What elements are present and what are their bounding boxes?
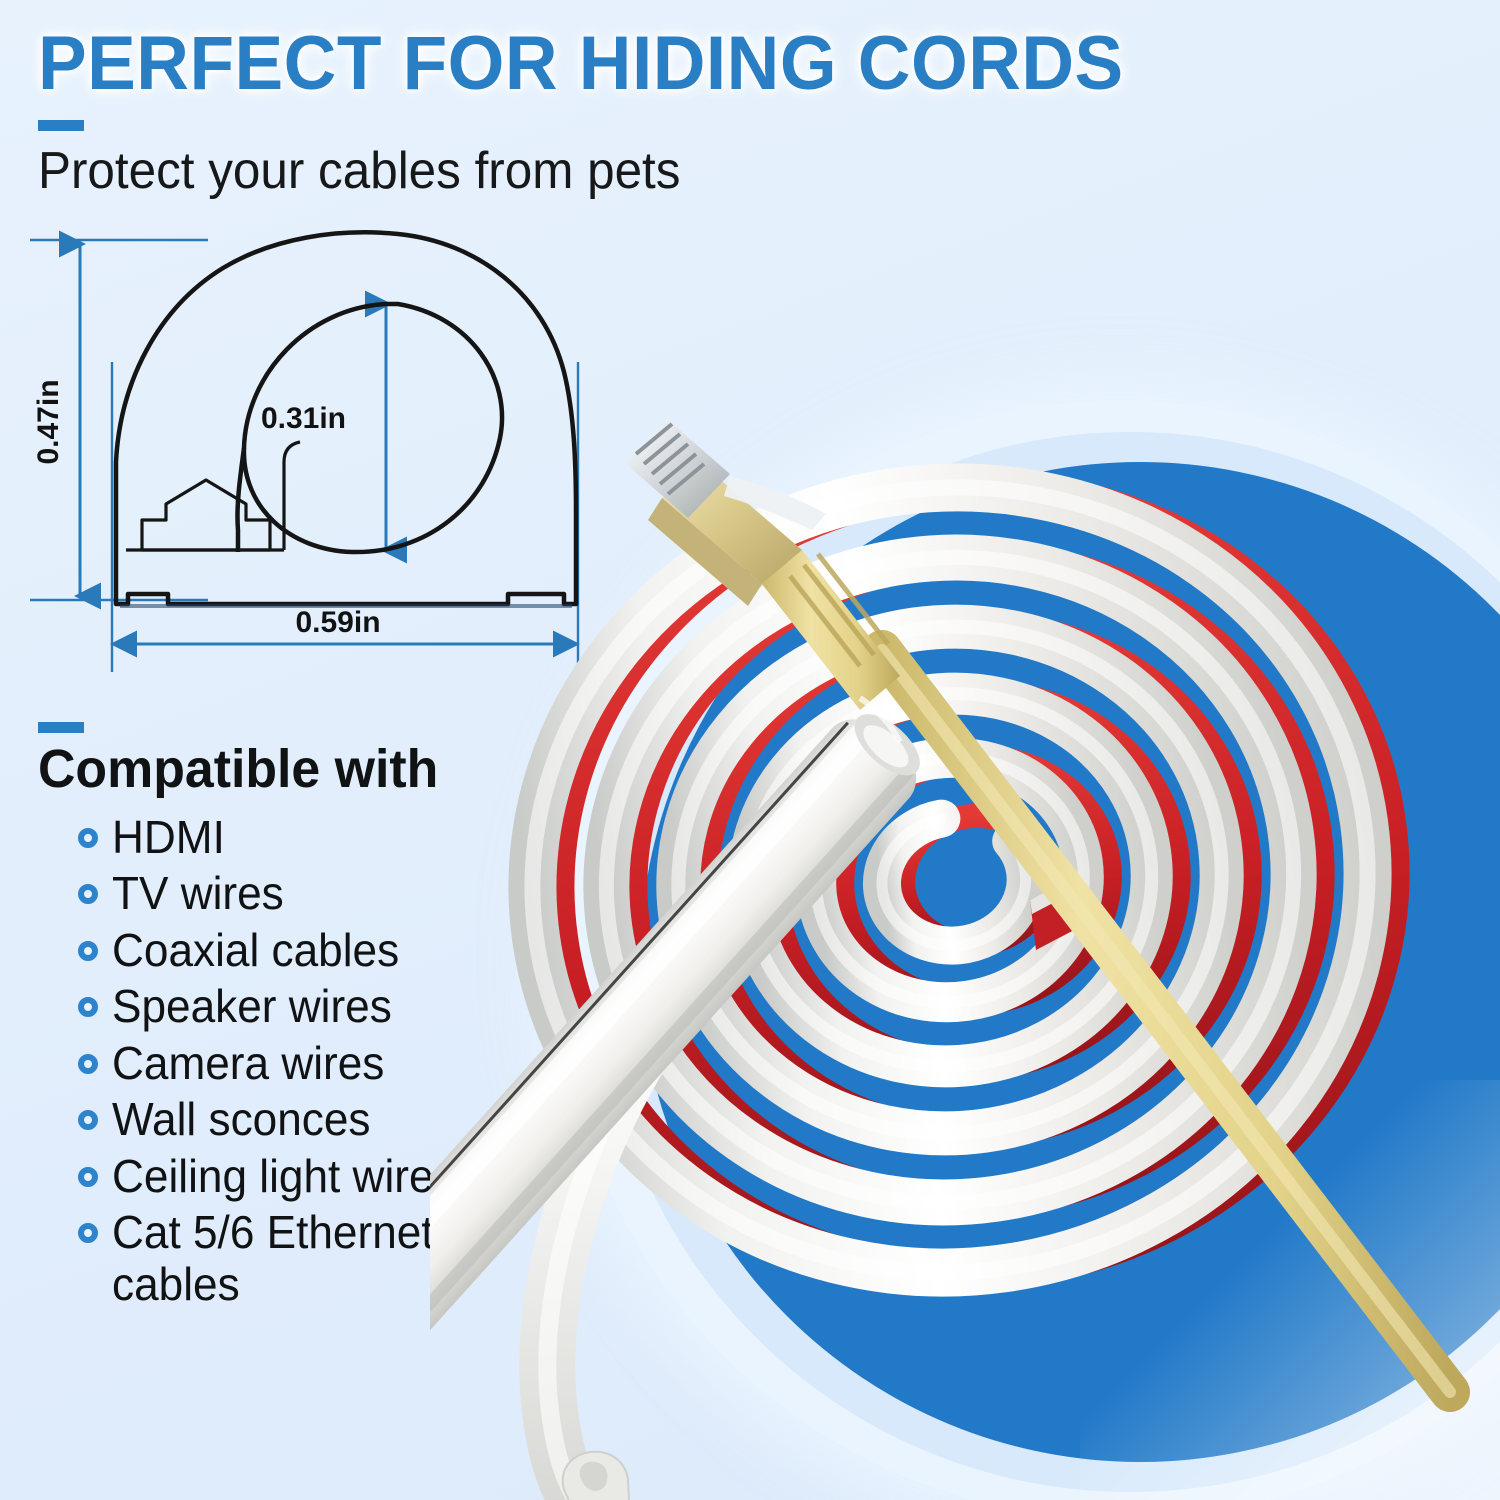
list-item-label: HDMI [112, 812, 225, 864]
bullet-ring-icon [78, 941, 98, 961]
product-image [430, 380, 1500, 1500]
list-item-label: Speaker wires [112, 981, 392, 1033]
bullet-ring-icon [78, 884, 98, 904]
header-block: PERFECT FOR HIDING CORDS Protect your ca… [38, 26, 1338, 201]
width-dimension-label: 0.59in [295, 606, 380, 639]
list-item-label: TV wires [112, 868, 284, 920]
list-item-label: Camera wires [112, 1038, 384, 1090]
height-dimension-label: 0.47in [32, 379, 65, 464]
bullet-ring-icon [78, 1110, 98, 1130]
page-title: PERFECT FOR HIDING CORDS [38, 26, 1286, 102]
title-accent-dash [38, 120, 84, 131]
bullet-ring-icon [78, 828, 98, 848]
tail-cut-end [563, 1452, 632, 1500]
infographic-page: PERFECT FOR HIDING CORDS Protect your ca… [0, 0, 1500, 1500]
bullet-ring-icon [78, 997, 98, 1017]
bullet-ring-icon [78, 1167, 98, 1187]
compat-accent-dash [38, 722, 84, 733]
list-item-label: Wall sconces [112, 1094, 370, 1146]
page-subtitle: Protect your cables from pets [38, 141, 1273, 201]
bullet-ring-icon [78, 1054, 98, 1074]
list-item-label: Coaxial cables [112, 925, 399, 977]
inner-height-dimension-label: 0.31in [261, 402, 346, 435]
list-item-label: Ceiling light wires [112, 1151, 456, 1203]
bullet-ring-icon [78, 1223, 98, 1243]
